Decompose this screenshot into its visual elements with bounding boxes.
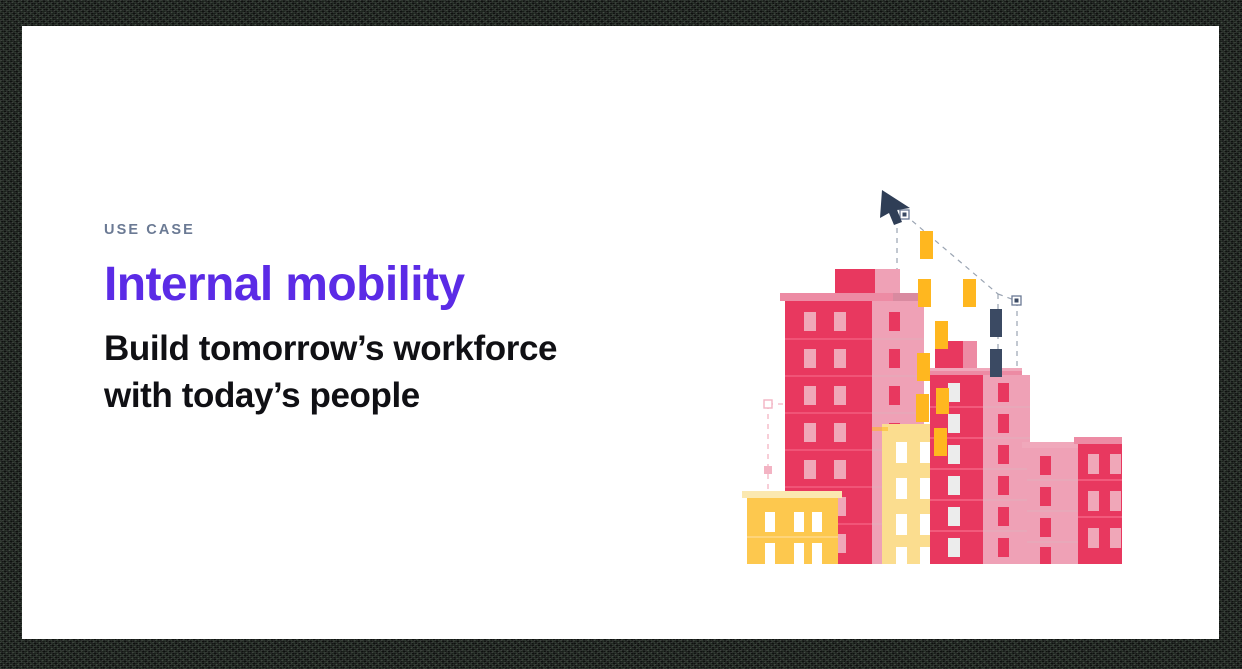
- subheading-line-1: Build tomorrow’s workforce: [104, 325, 704, 373]
- cityscape-illustration: [722, 166, 1122, 586]
- short-red-block: [1074, 437, 1122, 564]
- pink-midrise: [1022, 442, 1080, 564]
- subheading-line-2: with today’s people: [104, 372, 704, 420]
- arrow-cursor-icon: [880, 190, 910, 225]
- slide-canvas: USE CASE Internal mobility Build tomorro…: [22, 26, 1219, 639]
- navy-window-pair: [990, 309, 1002, 377]
- eyebrow-label: USE CASE: [104, 222, 704, 238]
- text-block: USE CASE Internal mobility Build tomorro…: [104, 222, 704, 420]
- screenshot-frame: USE CASE Internal mobility Build tomorro…: [0, 0, 1242, 669]
- page-title: Internal mobility: [104, 260, 704, 311]
- subheading: Build tomorrow’s workforce with today’s …: [104, 325, 704, 420]
- yellow-midrise: [742, 491, 842, 564]
